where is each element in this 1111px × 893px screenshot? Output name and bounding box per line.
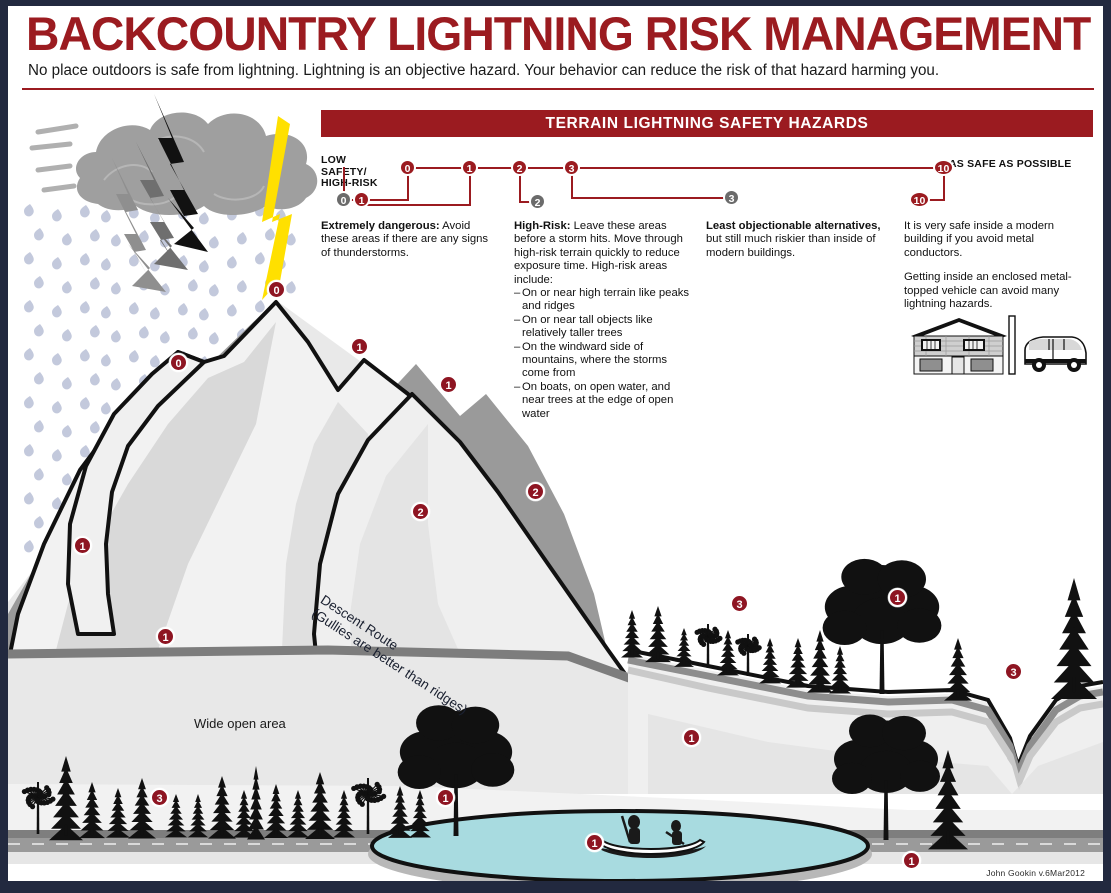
risk-marker-1-15[interactable]: 1 [902,851,921,870]
risk-marker-1-2[interactable]: 1 [350,337,369,356]
risk-marker-2-5[interactable]: 2 [411,502,430,521]
header-divider [22,88,1094,90]
page-title: BACKCOUNTRY LIGHTNING RISK MANAGEMENT [26,8,1075,60]
risk-marker-0-1[interactable]: 0 [169,353,188,372]
poster: BACKCOUNTRY LIGHTNING RISK MANAGEMENT No… [0,0,1111,893]
risk-marker-1-3[interactable]: 1 [439,375,458,394]
wide-open-area-label: Wide open area [194,716,286,731]
callout-dot-3[interactable]: 3 [723,189,740,206]
scale-tick-10[interactable]: 10 [933,159,954,176]
risk-marker-3-8[interactable]: 3 [730,594,749,613]
risk-marker-1-6[interactable]: 1 [73,536,92,555]
scene-svg [8,94,1103,881]
risk-marker-3-10[interactable]: 3 [1004,662,1023,681]
callout-dot-0[interactable]: 0 [335,191,352,208]
scale-tick-2[interactable]: 2 [511,159,528,176]
scale-tick-1[interactable]: 1 [461,159,478,176]
callout-dot-1[interactable]: 1 [353,191,370,208]
risk-marker-1-11[interactable]: 1 [682,728,701,747]
risk-marker-0-0[interactable]: 0 [267,280,286,299]
risk-marker-1-14[interactable]: 1 [585,833,604,852]
terrain-illustration: Wide open area Descent Route (Gullies ar… [8,94,1103,881]
credit-line: John Gookin v.6Mar2012 [986,868,1085,878]
callout-dot-2[interactable]: 2 [529,193,546,210]
page-canvas: BACKCOUNTRY LIGHTNING RISK MANAGEMENT No… [8,6,1103,881]
risk-marker-1-13[interactable]: 1 [436,788,455,807]
scale-tick-0[interactable]: 0 [399,159,416,176]
risk-marker-3-12[interactable]: 3 [150,788,169,807]
callout-dot-10[interactable]: 10 [909,191,930,208]
page-subtitle: No place outdoors is safe from lightning… [28,62,1077,80]
risk-marker-1-9[interactable]: 1 [888,588,907,607]
risk-marker-2-4[interactable]: 2 [526,482,545,501]
scale-tick-3[interactable]: 3 [563,159,580,176]
risk-marker-1-7[interactable]: 1 [156,627,175,646]
